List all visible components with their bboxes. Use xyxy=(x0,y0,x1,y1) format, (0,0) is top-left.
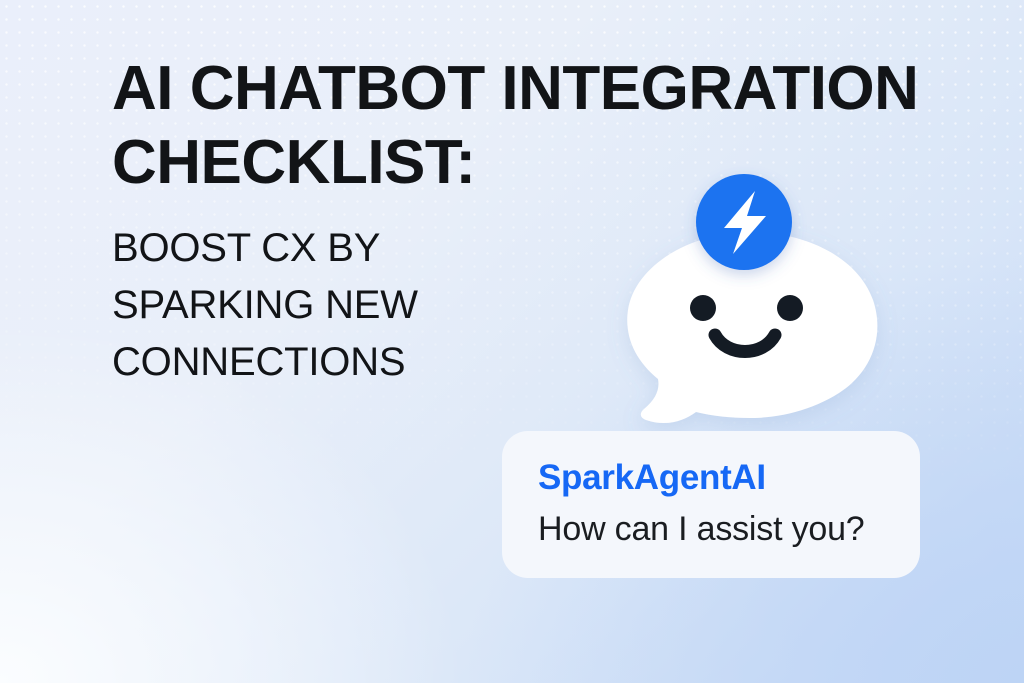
chatbot-mascot xyxy=(600,165,900,435)
right-eye xyxy=(777,295,803,321)
left-eye xyxy=(690,295,716,321)
agent-message-text: How can I assist you? xyxy=(538,508,884,550)
poster-canvas: AI CHATBOT INTEGRATION CHECKLIST: BOOST … xyxy=(0,0,1024,683)
lightning-bolt-icon xyxy=(696,174,792,270)
chat-message-card[interactable]: SparkAgentAI How can I assist you? xyxy=(502,431,920,578)
agent-name-label: SparkAgentAI xyxy=(538,457,884,499)
page-subtitle: BOOST CX BY SPARKING NEW CONNECTIONS xyxy=(112,220,512,391)
